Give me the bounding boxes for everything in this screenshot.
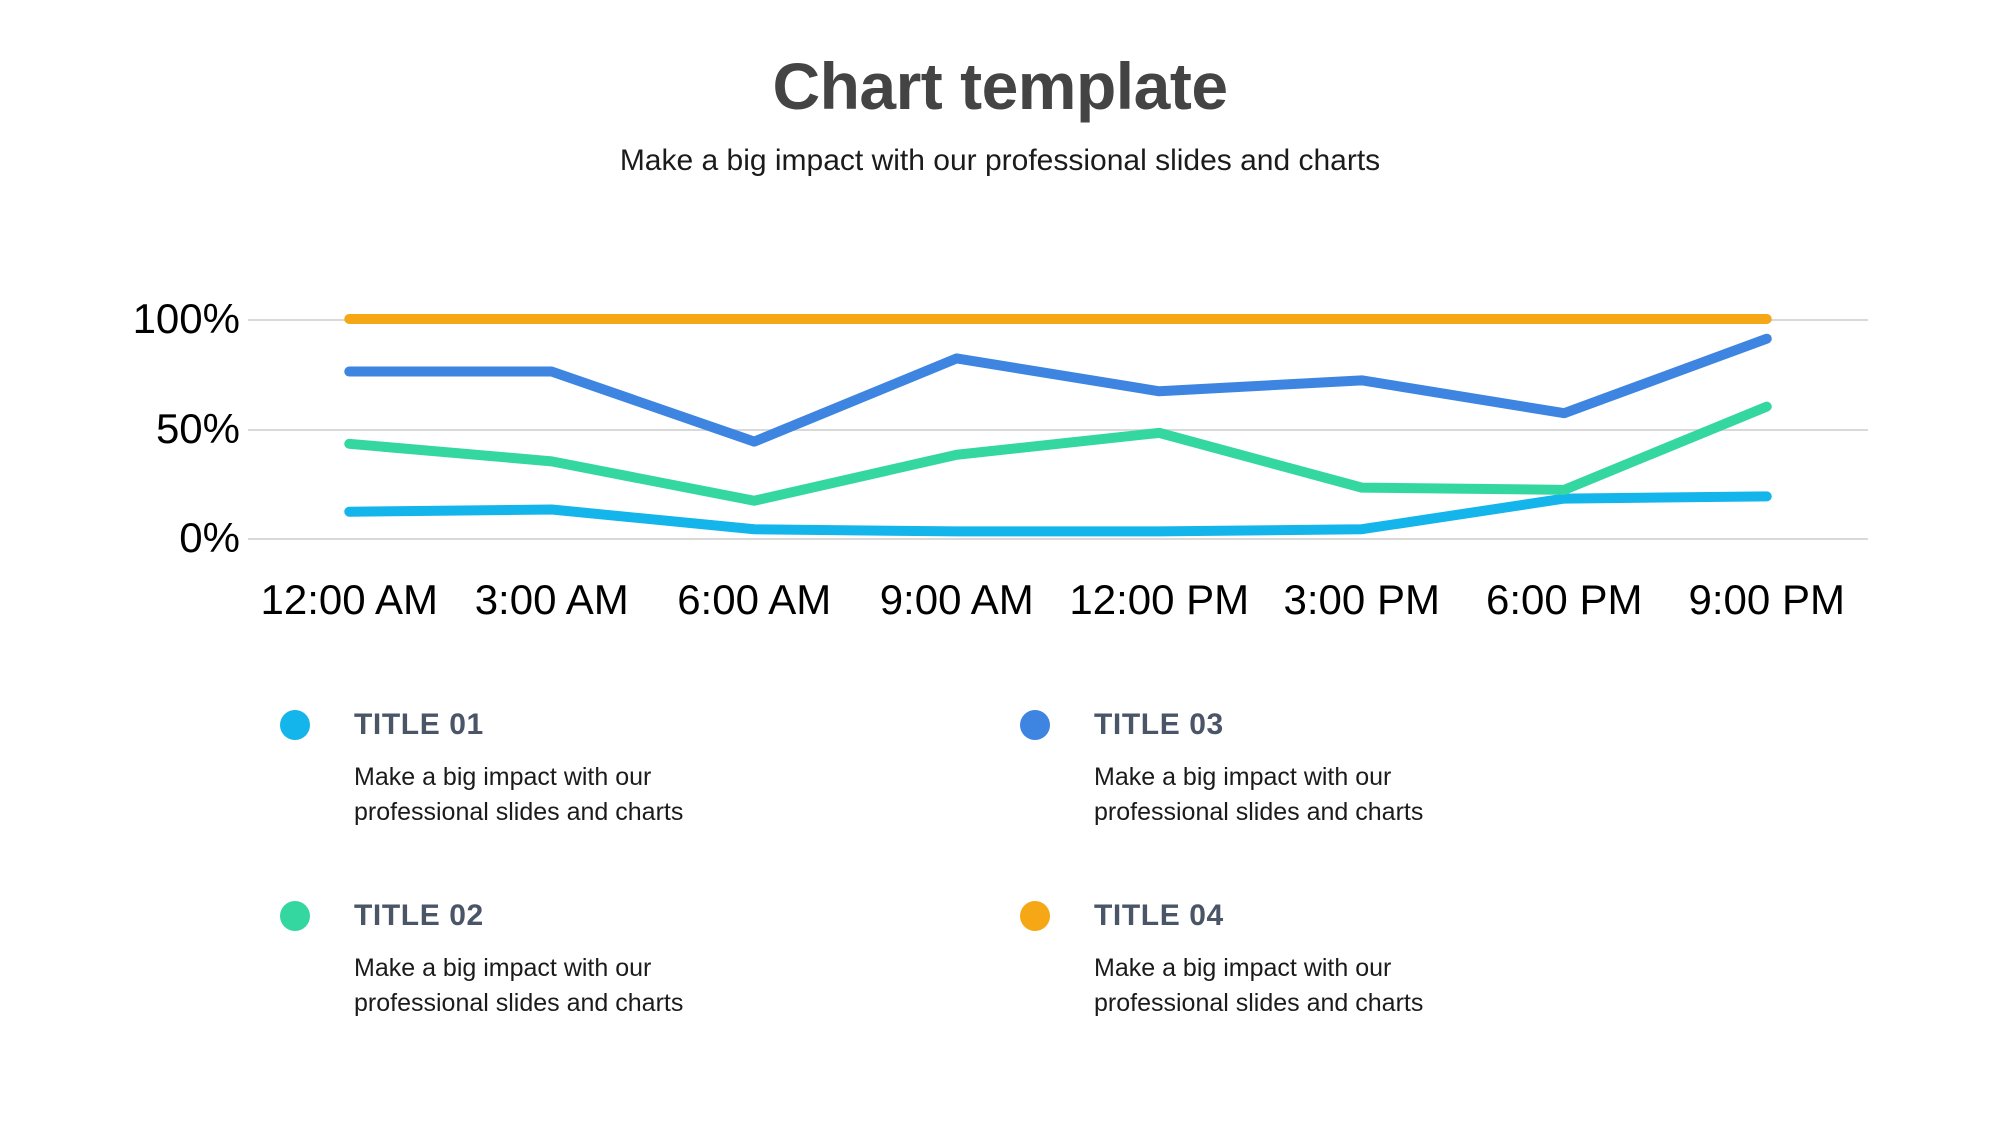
series-line-title-01 xyxy=(349,496,1767,531)
x-axis-tick-label: 6:00 AM xyxy=(653,575,856,635)
x-axis-tick-label: 6:00 PM xyxy=(1463,575,1666,635)
legend-item-description: Make a big impact with our professional … xyxy=(1094,760,1514,829)
line-series-layer xyxy=(248,230,1868,560)
y-axis-tick-label: 100% xyxy=(133,298,240,340)
chart-header: Chart template Make a big impact with ou… xyxy=(0,0,2000,179)
legend-item-description: Make a big impact with our professional … xyxy=(354,760,774,829)
legend-item-title: TITLE 01 xyxy=(354,710,484,740)
series-line-title-03 xyxy=(349,339,1767,442)
legend-item-title: TITLE 04 xyxy=(1094,901,1224,931)
legend-item-header: TITLE 02 xyxy=(280,901,1020,931)
legend-dot-icon xyxy=(1020,710,1050,740)
legend-item-description: Make a big impact with our professional … xyxy=(354,951,774,1020)
legend-dot-icon xyxy=(1020,901,1050,931)
legend-item-title-04[interactable]: TITLE 04Make a big impact with our profe… xyxy=(1020,901,1760,1020)
legend-item-title: TITLE 02 xyxy=(354,901,484,931)
series-line-title-02 xyxy=(349,407,1767,501)
chart-plot-area: 100%50%0% xyxy=(0,230,2000,560)
y-axis-tick-label: 50% xyxy=(156,408,240,450)
x-axis-tick-label: 3:00 AM xyxy=(451,575,654,635)
y-axis: 100%50%0% xyxy=(110,230,240,560)
legend-dot-icon xyxy=(280,901,310,931)
legend-item-header: TITLE 04 xyxy=(1020,901,1760,931)
x-axis-tick-label: 3:00 PM xyxy=(1261,575,1464,635)
x-axis-tick-label: 12:00 AM xyxy=(248,575,451,635)
page-subtitle: Make a big impact with our professional … xyxy=(0,143,2000,179)
legend-dot-icon xyxy=(280,710,310,740)
legend-item-title-03[interactable]: TITLE 03Make a big impact with our profe… xyxy=(1020,710,1760,829)
legend-item-header: TITLE 01 xyxy=(280,710,1020,740)
legend-item-description: Make a big impact with our professional … xyxy=(1094,951,1514,1020)
x-axis-tick-label: 9:00 AM xyxy=(856,575,1059,635)
legend-item-header: TITLE 03 xyxy=(1020,710,1760,740)
x-axis-tick-label: 9:00 PM xyxy=(1666,575,1869,635)
legend-item-title: TITLE 03 xyxy=(1094,710,1224,740)
x-axis-tick-label: 12:00 PM xyxy=(1058,575,1261,635)
legend-item-title-02[interactable]: TITLE 02Make a big impact with our profe… xyxy=(280,901,1020,1020)
legend-item-title-01[interactable]: TITLE 01Make a big impact with our profe… xyxy=(280,710,1020,829)
chart-legend: TITLE 01Make a big impact with our profe… xyxy=(0,710,2000,1020)
y-axis-tick-label: 0% xyxy=(179,517,240,559)
page-title: Chart template xyxy=(0,52,2000,121)
x-axis: 12:00 AM3:00 AM6:00 AM9:00 AM12:00 PM3:0… xyxy=(248,575,1868,635)
